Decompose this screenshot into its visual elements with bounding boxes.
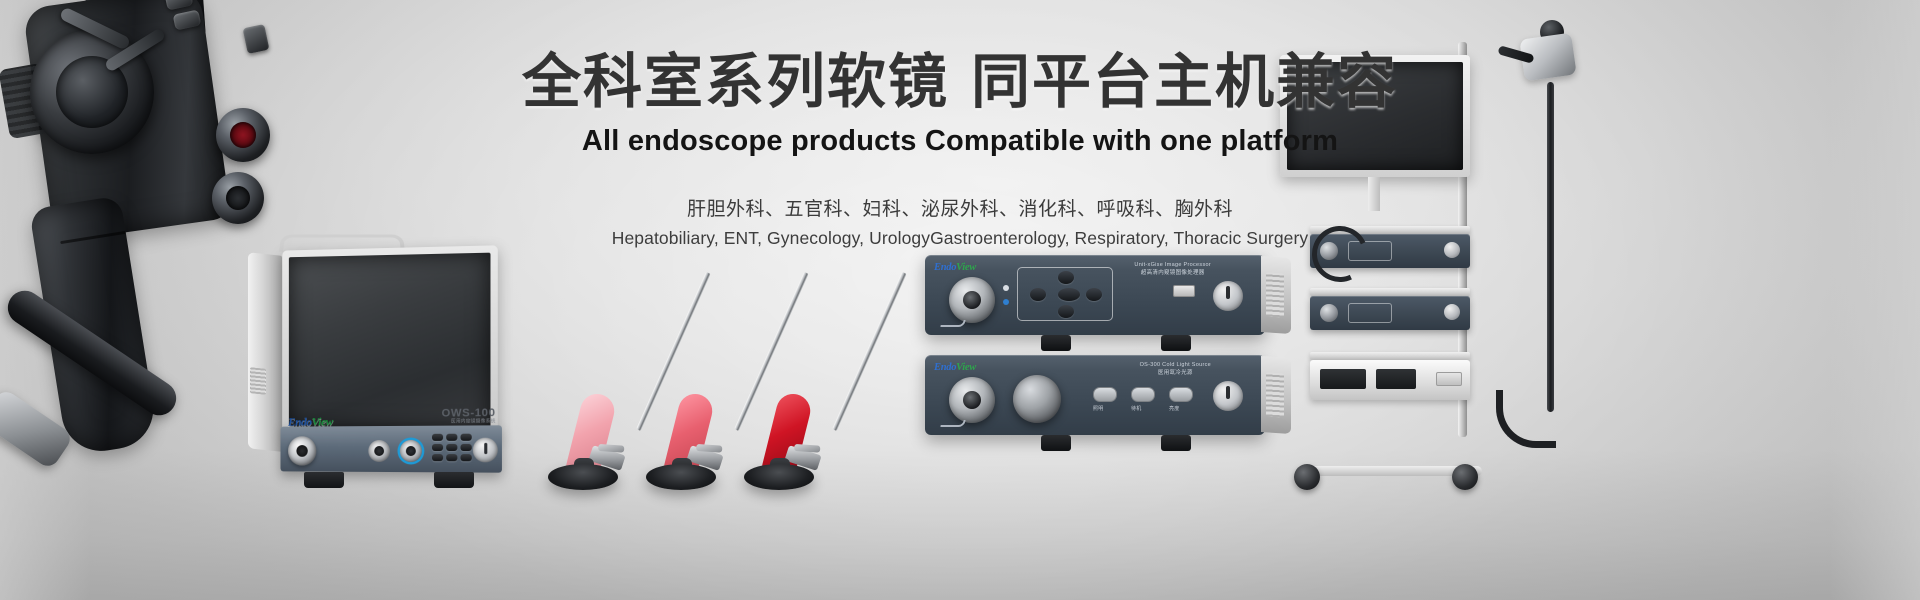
processor-label: Unit-xGise Image Processor 超高清内窥镜图像处理器	[1134, 261, 1211, 278]
processor-usb-port	[1173, 285, 1195, 297]
scope-insertion-tube-bend	[1496, 390, 1556, 448]
cart-device-2	[1310, 296, 1470, 330]
cart-shelf-2	[1310, 288, 1470, 296]
console-foot-bottom-right	[1161, 435, 1191, 451]
console-foot-bottom-left	[1041, 435, 1071, 451]
endoview-image-processor: EndoView Unit-xGise Image Processor 超高清内…	[925, 255, 1265, 335]
light-source-button-1	[1093, 387, 1117, 402]
endoview-console-stack: EndoView Unit-xGise Image Processor 超高清内…	[925, 255, 1270, 455]
departments-chinese: 肝胆外科、五官科、妇科、泌尿外科、消化科、呼吸科、胸外科	[0, 194, 1920, 221]
light-source-button-1-label: 照明	[1093, 405, 1103, 412]
instrument-stand-base	[646, 464, 716, 490]
console-front-panel: EndoView OWS-100 医用内窥镜摄像系统	[281, 425, 502, 472]
console-foot-left	[304, 472, 344, 488]
processor-wave-icon	[940, 320, 965, 327]
light-source-button-2-label: 待机	[1131, 405, 1141, 412]
instrument-shaft	[832, 272, 907, 431]
instrument-stand-base	[744, 464, 814, 490]
console-vent-grille	[250, 367, 266, 395]
console-screen	[289, 253, 491, 432]
light-source-button-3	[1169, 387, 1193, 402]
cart-device-3	[1310, 360, 1470, 400]
processor-navigation-pad	[1017, 267, 1113, 321]
console-stack-foot-left	[1041, 335, 1071, 351]
processor-led-1	[1003, 285, 1009, 291]
console-port-3-highlighted	[400, 440, 422, 462]
console-model-sublabel: 医用内窥镜摄像系统	[451, 418, 496, 424]
instrument-stand-base	[548, 464, 618, 490]
endoview-brand-logo: EndoView	[288, 415, 333, 430]
console-foot-right	[434, 472, 474, 488]
product-banner: EndoView OWS-100 医用内窥镜摄像系统	[0, 0, 1920, 600]
cart-wheel-left	[1294, 464, 1320, 490]
console-stack-foot-right	[1161, 335, 1191, 351]
light-source-power-knob	[1213, 381, 1243, 411]
page-subtitle: All endoscope products Compatible with o…	[0, 125, 1920, 158]
light-source-output-port	[949, 377, 995, 423]
processor-led-2	[1003, 299, 1009, 305]
console-port-2	[368, 440, 390, 462]
endoview-cold-light-source: EndoView OS-300 Cold Light Source 医用氙冷光源…	[925, 355, 1265, 435]
headline-part-1: 全科室系列软镜	[522, 49, 949, 115]
console-left-side	[248, 252, 282, 452]
departments-english: Hepatobiliary, ENT, Gynecology, UrologyG…	[0, 228, 1920, 249]
light-source-side-vent	[1261, 356, 1291, 434]
page-title: 全科室系列软镜同平台主机兼容	[0, 52, 1920, 114]
cart-shelf-3	[1310, 352, 1470, 360]
light-source-button-3-label: 亮度	[1169, 405, 1179, 412]
light-source-button-2	[1131, 387, 1155, 402]
scope-button-3	[243, 24, 270, 54]
console-power-knob	[473, 438, 498, 463]
light-source-brightness-dial	[1013, 375, 1061, 423]
laparoscopic-instrument-red	[708, 258, 858, 488]
console-scope-connector-port	[288, 436, 316, 465]
processor-scope-port	[949, 277, 995, 323]
processor-power-knob	[1213, 281, 1243, 311]
light-source-label: OS-300 Cold Light Source 医用氙冷光源	[1140, 361, 1211, 378]
endoview-brand-logo: EndoView	[934, 262, 976, 273]
headline-part-2: 同平台主机兼容	[971, 49, 1398, 115]
endoview-brand-logo: EndoView	[934, 362, 976, 373]
banner-text-block: 全科室系列软镜同平台主机兼容 All endoscope products Co…	[0, 52, 1920, 249]
cart-wheel-right	[1452, 464, 1478, 490]
ows-100-monitor-console: EndoView OWS-100 医用内窥镜摄像系统	[238, 248, 500, 480]
processor-side-vent	[1261, 256, 1291, 334]
light-source-wave-icon	[940, 420, 965, 427]
